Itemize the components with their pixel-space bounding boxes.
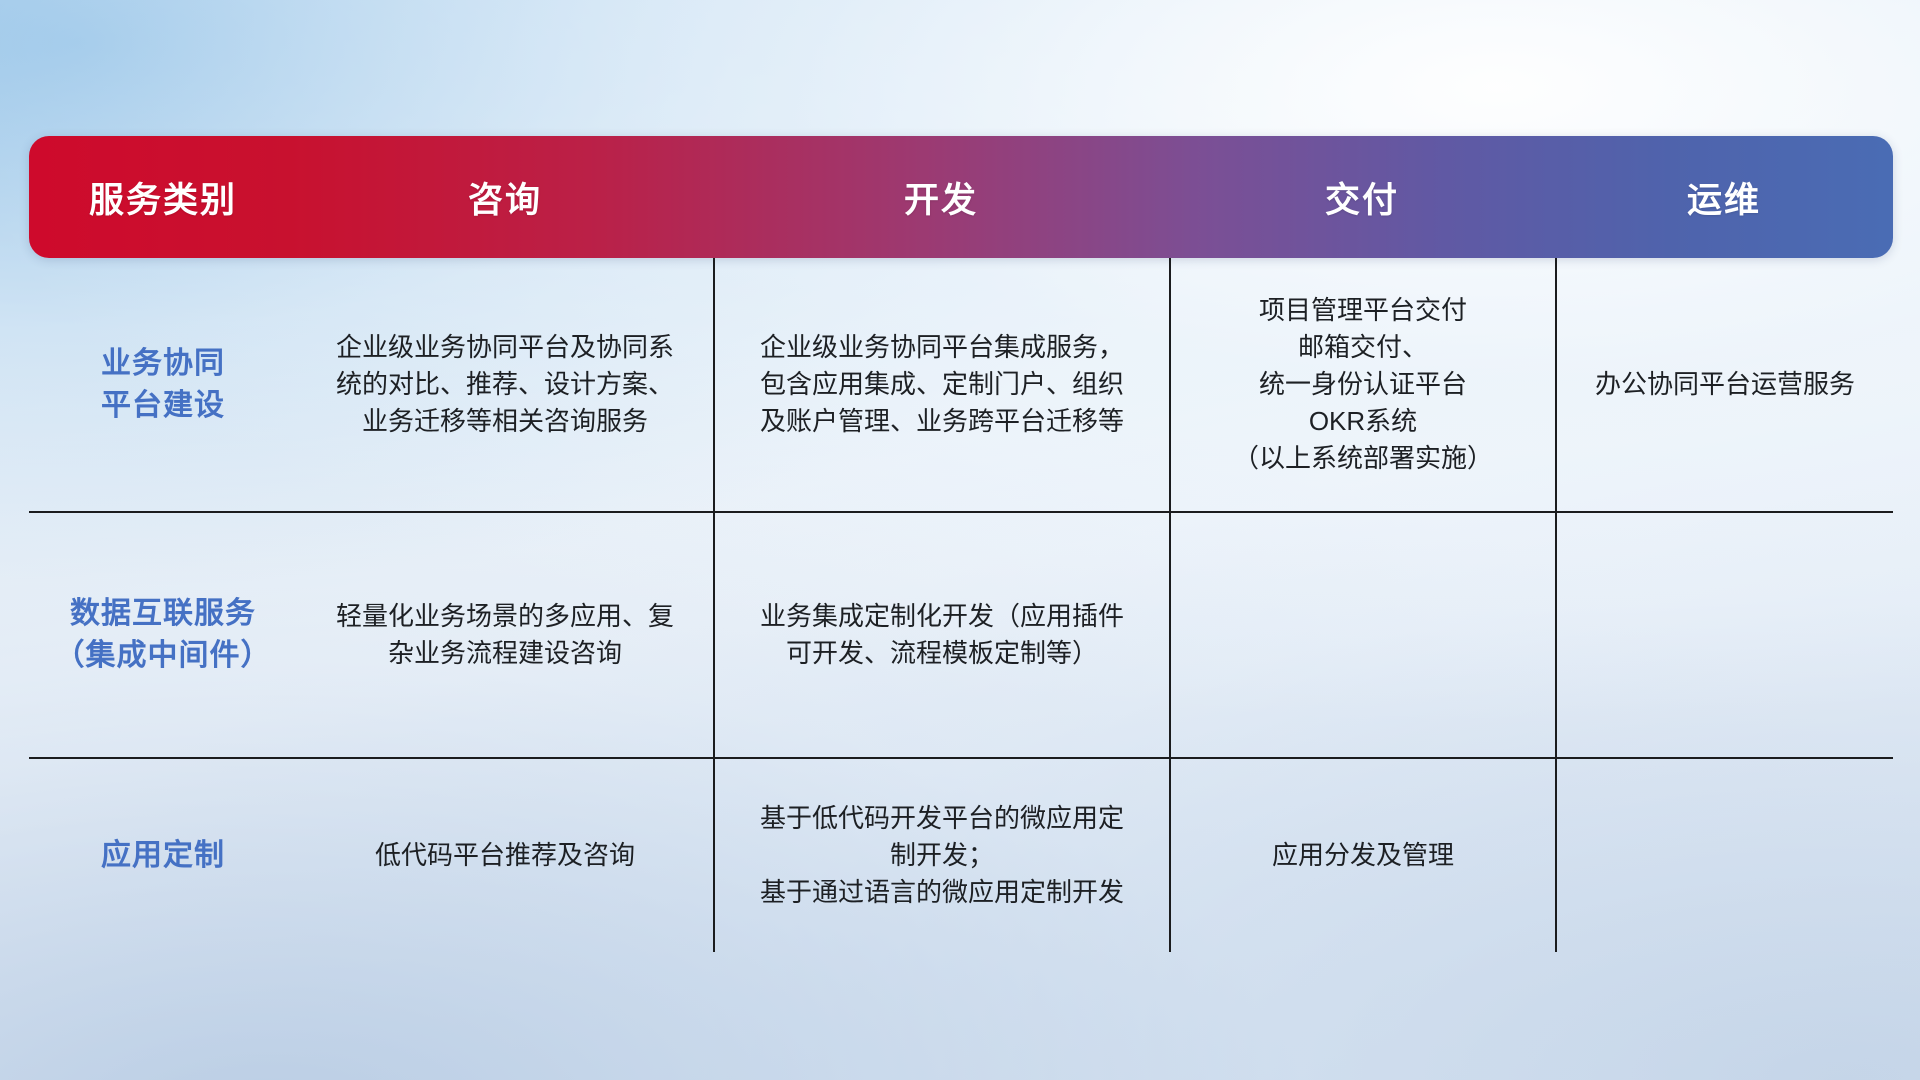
cell-operations [1555,759,1893,952]
row-label-cell: 数据互联服务 （集成中间件） [29,513,297,759]
cell-operations: 办公协同平台运营服务 [1555,258,1893,513]
cell-operations [1555,513,1893,759]
table-row: 数据互联服务 （集成中间件） 轻量化业务场景的多应用、复 杂业务流程建设咨询 业… [29,513,1893,759]
row-label-text: 应用定制 [101,835,225,877]
table-row: 业务协同 平台建设 企业级业务协同平台及协同系 统的对比、推荐、设计方案、 业务… [29,258,1893,513]
table-row: 应用定制 低代码平台推荐及咨询 基于低代码开发平台的微应用定 制开发； 基于通过… [29,759,1893,952]
cell-development: 基于低代码开发平台的微应用定 制开发； 基于通过语言的微应用定制开发 [713,759,1169,952]
column-header-delivery: 交付 [1169,136,1555,258]
cell-consulting: 轻量化业务场景的多应用、复 杂业务流程建设咨询 [297,513,713,759]
cell-consulting: 低代码平台推荐及咨询 [297,759,713,952]
cell-delivery: 应用分发及管理 [1169,759,1555,952]
row-label-text: 业务协同 平台建设 [101,343,225,427]
column-header-label: 运维 [1687,172,1761,223]
table-header-row: 服务类别 咨询 开发 交付 运维 [29,136,1893,258]
column-header-label: 交付 [1325,172,1399,223]
cell-text: 办公协同平台运营服务 [1595,366,1855,403]
page-root: 服务类别 咨询 开发 交付 运维 业务协同 平台建设 [0,0,1920,1080]
cell-delivery [1169,513,1555,759]
cell-text: 企业级业务协同平台集成服务， 包含应用集成、定制门户、组织 及账户管理、业务跨平… [760,329,1124,440]
column-header-operations: 运维 [1555,136,1893,258]
cell-text: 应用分发及管理 [1272,837,1454,874]
cell-development: 业务集成定制化开发（应用插件 可开发、流程模板定制等） [713,513,1169,759]
column-header-label: 服务类别 [89,172,237,223]
service-matrix-table: 服务类别 咨询 开发 交付 运维 业务协同 平台建设 [29,136,1893,952]
cell-text: 轻量化业务场景的多应用、复 杂业务流程建设咨询 [336,598,674,672]
row-label-cell: 应用定制 [29,759,297,952]
column-header-label: 咨询 [468,172,542,223]
column-header-consulting: 咨询 [297,136,713,258]
cell-delivery: 项目管理平台交付 邮箱交付、 统一身份认证平台 OKR系统 （以上系统部署实施） [1169,258,1555,513]
column-header-service-category: 服务类别 [29,136,297,258]
cell-text: 企业级业务协同平台及协同系 统的对比、推荐、设计方案、 业务迁移等相关咨询服务 [336,329,674,440]
cell-text: 业务集成定制化开发（应用插件 可开发、流程模板定制等） [760,598,1124,672]
cell-consulting: 企业级业务协同平台及协同系 统的对比、推荐、设计方案、 业务迁移等相关咨询服务 [297,258,713,513]
row-label-cell: 业务协同 平台建设 [29,258,297,513]
cell-text: 基于低代码开发平台的微应用定 制开发； 基于通过语言的微应用定制开发 [760,800,1124,911]
cell-text: 项目管理平台交付 邮箱交付、 统一身份认证平台 OKR系统 （以上系统部署实施） [1233,292,1493,477]
table-body: 业务协同 平台建设 企业级业务协同平台及协同系 统的对比、推荐、设计方案、 业务… [29,258,1893,952]
cell-development: 企业级业务协同平台集成服务， 包含应用集成、定制门户、组织 及账户管理、业务跨平… [713,258,1169,513]
column-header-label: 开发 [904,172,978,223]
cell-text: 低代码平台推荐及咨询 [375,837,635,874]
row-label-text: 数据互联服务 （集成中间件） [55,593,272,677]
column-header-development: 开发 [713,136,1169,258]
